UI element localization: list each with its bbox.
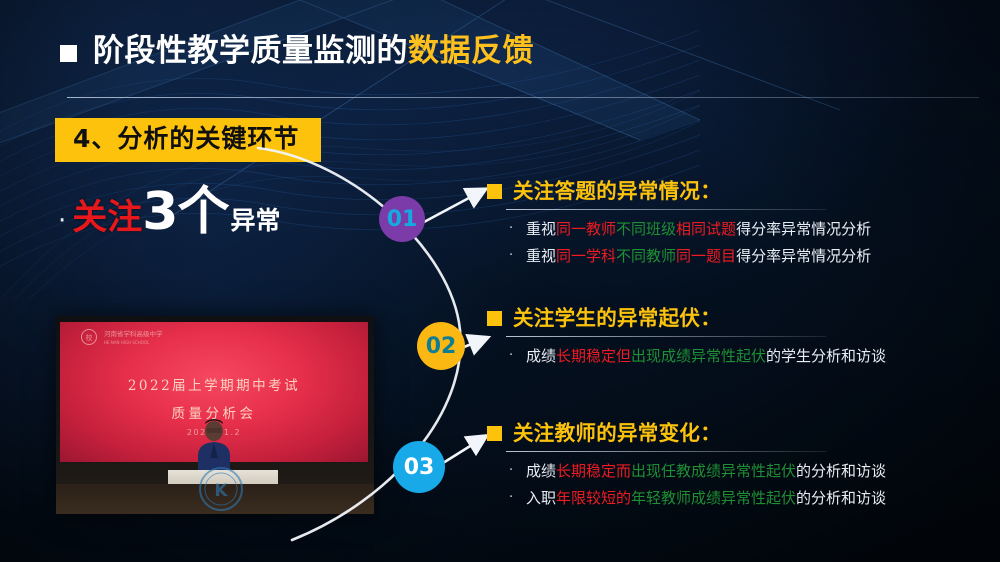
lead-big-text: 3个 (142, 186, 228, 238)
photo-projection-screen: 校 河南省学科高级中学 HE NAN HIGH SCHOOL 2022届上学期期… (60, 322, 368, 462)
list-item-bullet: · (509, 219, 526, 239)
text-segment-w: 入职 (526, 489, 556, 507)
section-chip: 4、分析的关键环节 (55, 118, 321, 162)
lead-bullet: · (58, 208, 66, 234)
text-segment-w: 的分析和访谈 (796, 462, 886, 480)
step-badge-01-label: 01 (387, 207, 418, 232)
list-item-bullet: · (509, 488, 526, 508)
text-segment-g: 出现任教成绩异常性起伏 (631, 462, 796, 480)
text-segment-g: 年轻教师成绩异常性起伏 (631, 489, 796, 507)
content-block-2-divider (506, 336, 826, 337)
meeting-photo: 校 河南省学科高级中学 HE NAN HIGH SCHOOL 2022届上学期期… (56, 316, 374, 514)
text-segment-w: 成绩 (526, 462, 556, 480)
text-segment-r: 长期稳定但 (556, 347, 631, 365)
text-segment-r: 长期稳定而 (556, 462, 631, 480)
text-segment-w: 得分率异常情况分析 (736, 220, 871, 238)
text-segment-r: 年限较短的 (556, 489, 631, 507)
text-segment-w: 的分析和访谈 (796, 489, 886, 507)
list-item-bullet: · (509, 346, 526, 366)
text-segment-r: 相同试题 (676, 220, 736, 238)
step-badge-03-label: 03 (404, 455, 435, 480)
content-block-1-list: ·重视同一教师不同班级相同试题得分率异常情况分析·重视同一学科不同教师同一题目得… (509, 219, 987, 267)
content-block-1-title: 关注答题的异常情况： (513, 180, 721, 204)
list-item: ·重视同一教师不同班级相同试题得分率异常情况分析 (509, 219, 987, 240)
content-block-3-title: 关注教师的异常变化： (513, 422, 721, 446)
step-badge-02-label: 02 (426, 334, 457, 359)
content-block-3-list: ·成绩长期稳定而出现任教成绩异常性起伏的分析和访谈·入职年限较短的年轻教师成绩异… (509, 461, 987, 509)
text-segment-w: 得分率异常情况分析 (736, 247, 871, 265)
text-segment-w: 成绩 (526, 347, 556, 365)
list-item-text: 重视同一学科不同教师同一题目得分率异常情况分析 (526, 246, 871, 267)
school-crest-icon: 校 河南省学科高级中学 HE NAN HIGH SCHOOL (80, 328, 190, 346)
page-title: 阶段性教学质量监测的数据反馈 (93, 36, 534, 67)
step-badge-03[interactable]: 03 (393, 441, 445, 493)
content-block-1-divider (506, 209, 826, 210)
list-item: ·入职年限较短的年轻教师成绩异常性起伏的分析和访谈 (509, 488, 987, 509)
block-square-marker-icon (487, 184, 502, 199)
step-badge-02[interactable]: 02 (417, 322, 465, 370)
text-segment-w: 重视 (526, 220, 556, 238)
header-divider (67, 97, 979, 98)
text-segment-g: 不同教师 (616, 247, 676, 265)
step-badge-01[interactable]: 01 (379, 196, 425, 242)
list-item-text: 成绩长期稳定但出现成绩异常性起伏的学生分析和访谈 (526, 346, 886, 367)
photo-screen-line1: 2022届上学期期中考试 (60, 374, 368, 394)
page-title-yellow: 数据反馈 (408, 33, 534, 69)
lead-small-text: 异常 (230, 208, 280, 233)
block-square-marker-icon (487, 311, 502, 326)
lead-headline: · 关注 3个 异常 (58, 186, 280, 238)
school-emblem-icon: K (198, 466, 244, 512)
lead-red-text: 关注 (72, 201, 142, 236)
content-block-3-header: 关注教师的异常变化： (487, 422, 987, 446)
list-item-text: 重视同一教师不同班级相同试题得分率异常情况分析 (526, 219, 871, 240)
page-title-white: 阶段性教学质量监测的 (93, 33, 408, 69)
text-segment-r: 同一教师 (556, 220, 616, 238)
content-block-1: 关注答题的异常情况： ·重视同一教师不同班级相同试题得分率异常情况分析·重视同一… (487, 180, 987, 273)
content-block-2-title: 关注学生的异常起伏： (513, 307, 721, 331)
text-segment-r: 同一题目 (676, 247, 736, 265)
header-square-marker-icon (60, 45, 77, 62)
list-item-bullet: · (509, 246, 526, 266)
content-block-1-header: 关注答题的异常情况： (487, 180, 987, 204)
block-square-marker-icon (487, 426, 502, 441)
text-segment-r: 同一学科 (556, 247, 616, 265)
section-chip-label: 4、分析的关键环节 (73, 124, 299, 153)
text-segment-w: 的学生分析和访谈 (766, 347, 886, 365)
text-segment-g: 不同班级 (616, 220, 676, 238)
list-item-bullet: · (509, 461, 526, 481)
svg-text:HE NAN HIGH SCHOOL: HE NAN HIGH SCHOOL (104, 340, 150, 345)
list-item-text: 入职年限较短的年轻教师成绩异常性起伏的分析和访谈 (526, 488, 886, 509)
svg-text:校: 校 (86, 333, 93, 342)
svg-text:河南省学科高级中学: 河南省学科高级中学 (104, 329, 163, 338)
list-item: ·成绩长期稳定而出现任教成绩异常性起伏的分析和访谈 (509, 461, 987, 482)
content-block-3: 关注教师的异常变化： ·成绩长期稳定而出现任教成绩异常性起伏的分析和访谈·入职年… (487, 422, 987, 515)
content-block-2-list: ·成绩长期稳定但出现成绩异常性起伏的学生分析和访谈 (509, 346, 987, 367)
content-block-2: 关注学生的异常起伏： ·成绩长期稳定但出现成绩异常性起伏的学生分析和访谈 (487, 307, 987, 373)
slide-canvas: 阶段性教学质量监测的数据反馈 4、分析的关键环节 · 关注 3个 异常 校 河南… (0, 0, 1000, 562)
text-segment-w: 重视 (526, 247, 556, 265)
text-segment-g: 出现成绩异常性起伏 (631, 347, 766, 365)
content-block-3-divider (506, 451, 826, 452)
svg-text:K: K (214, 481, 228, 501)
content-block-2-header: 关注学生的异常起伏： (487, 307, 987, 331)
slide-header: 阶段性教学质量监测的数据反馈 (60, 36, 534, 67)
list-item: ·重视同一学科不同教师同一题目得分率异常情况分析 (509, 246, 987, 267)
list-item-text: 成绩长期稳定而出现任教成绩异常性起伏的分析和访谈 (526, 461, 886, 482)
list-item: ·成绩长期稳定但出现成绩异常性起伏的学生分析和访谈 (509, 346, 987, 367)
